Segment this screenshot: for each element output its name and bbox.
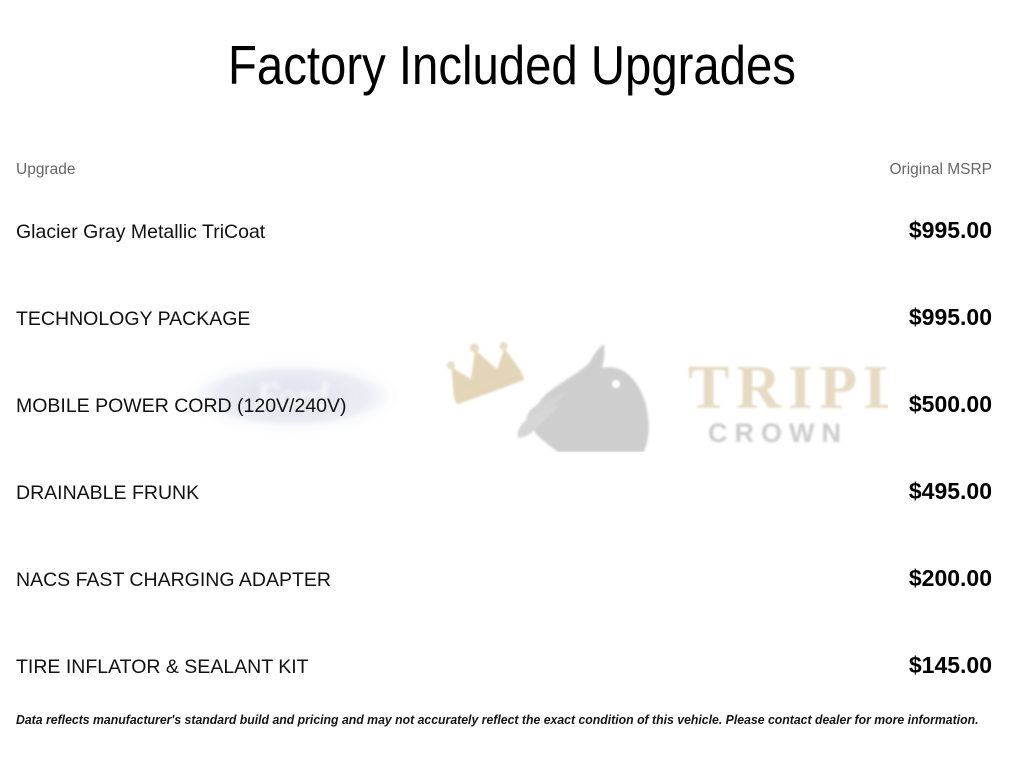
- upgrade-name: MOBILE POWER CORD (120V/240V): [16, 393, 347, 419]
- table-row: NACS FAST CHARGING ADAPTER $200.00: [16, 564, 992, 593]
- table-row: TIRE INFLATOR & SEALANT KIT $145.00: [16, 651, 992, 680]
- table-row: MOBILE POWER CORD (120V/240V) $500.00: [16, 390, 992, 419]
- upgrade-name: TECHNOLOGY PACKAGE: [16, 306, 250, 332]
- table-row: Glacier Gray Metallic TriCoat $995.00: [16, 216, 992, 245]
- upgrade-price: $495.00: [909, 477, 992, 505]
- upgrade-name: DRAINABLE FRUNK: [16, 480, 199, 506]
- column-header-upgrade: Upgrade: [16, 160, 75, 180]
- upgrade-name: Glacier Gray Metallic TriCoat: [16, 219, 265, 245]
- upgrade-name: NACS FAST CHARGING ADAPTER: [16, 567, 331, 593]
- crown-wordmark: CROWN: [708, 418, 848, 448]
- upgrade-price: $995.00: [909, 216, 992, 244]
- upgrade-price: $145.00: [909, 651, 992, 679]
- page-title: Factory Included Upgrades: [72, 33, 953, 97]
- column-header-original-msrp: Original MSRP: [890, 160, 993, 180]
- document-page: Ford: [0, 0, 1024, 768]
- disclaimer-text: Data reflects manufacturer's standard bu…: [16, 711, 939, 728]
- table-row: TECHNOLOGY PACKAGE $995.00: [16, 303, 992, 332]
- table-row: DRAINABLE FRUNK $495.00: [16, 477, 992, 506]
- upgrade-price: $500.00: [909, 390, 992, 418]
- upgrade-name: TIRE INFLATOR & SEALANT KIT: [16, 654, 309, 680]
- upgrade-price: $200.00: [909, 564, 992, 592]
- table-header-row: Upgrade Original MSRP: [16, 160, 992, 180]
- upgrade-price: $995.00: [909, 303, 992, 331]
